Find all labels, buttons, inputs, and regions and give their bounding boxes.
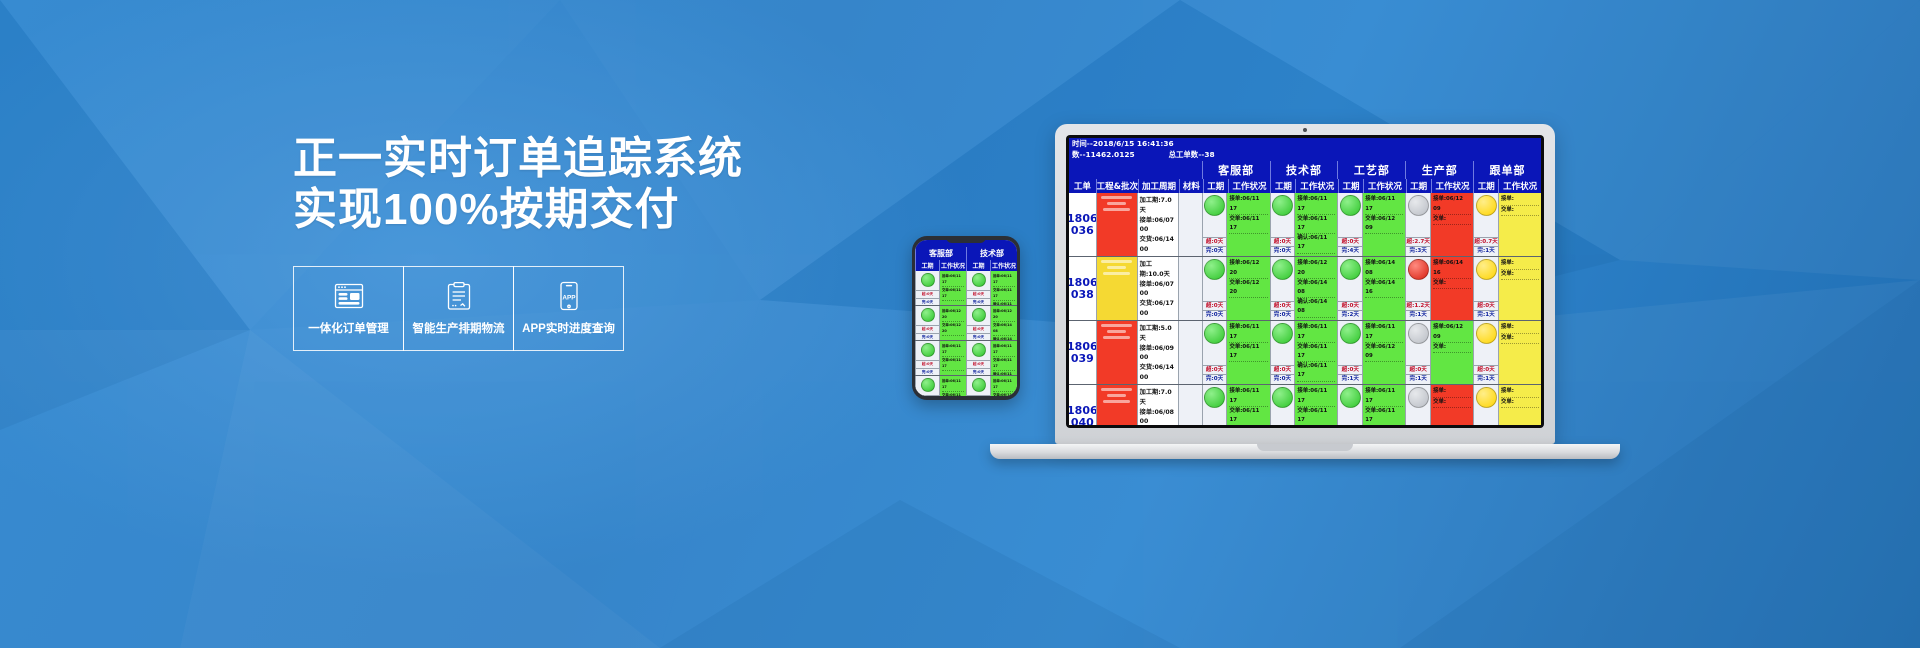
- erp-cell-project: [1096, 193, 1137, 256]
- erp-complete-days: 完:1天: [1406, 374, 1430, 384]
- erp-cell-status-客服部: 接单:06/11 17交单:06/11 17: [1226, 193, 1269, 256]
- phone-cell-duration: 超:0天完:0天: [966, 341, 990, 375]
- phone-cell-duration: 超:0天完:0天: [966, 376, 990, 396]
- erp-col-duration: 工期: [1406, 179, 1431, 193]
- phone-col-duration: 工期: [966, 260, 990, 271]
- erp-over-days: 超:0天: [1203, 365, 1227, 375]
- erp-cell-duration-生产部: 超:2.7天完:3天: [1405, 193, 1430, 256]
- erp-cell-duration-工艺部: 超:0天完:2天: [1337, 385, 1362, 425]
- erp-cell-duration-生产部: 超:1.2天完:1天: [1405, 257, 1430, 320]
- phone-notch: [946, 236, 986, 243]
- erp-col-duration: 工期: [1338, 179, 1363, 193]
- erp-cell-cycle: 加工期:7.0天接单:06/07 00交货:06/14 00: [1137, 193, 1178, 256]
- erp-order-tracking-table[interactable]: 时间--2018/6/15 16:41:36数--11462.0125总工单数-…: [1069, 138, 1541, 425]
- laptop-screen[interactable]: 时间--2018/6/15 16:41:36数--11462.0125总工单数-…: [1069, 138, 1541, 425]
- status-dot-grey: [1408, 323, 1429, 344]
- erp-cell-status-工艺部: 接单:06/11 17交单:06/11 17: [1362, 385, 1405, 425]
- erp-meta-strip: 时间--2018/6/15 16:41:36数--11462.0125总工单数-…: [1069, 138, 1541, 161]
- erp-cell-status-跟单部: 接单:交单:: [1498, 257, 1541, 320]
- erp-col-工单: 工单: [1069, 179, 1096, 193]
- erp-cell-duration-工艺部: 超:0天完:2天: [1337, 257, 1362, 320]
- status-dot-yellow: [1476, 387, 1497, 408]
- phone-cell-status: 接单:06/12 20交单:06/14 08确认:06/14 08: [990, 306, 1017, 340]
- status-dot-grey: [1408, 387, 1429, 408]
- erp-cell-material: [1178, 385, 1202, 425]
- erp-complete-days: 完:1天: [1338, 374, 1362, 384]
- erp-cell-duration-工艺部: 超:0天完:4天: [1337, 193, 1362, 256]
- status-dot-green: [1272, 387, 1293, 408]
- table-row[interactable]: 1806036加工期:7.0天接单:06/07 00交货:06/14 00超:0…: [1069, 193, 1541, 257]
- erp-cell-duration-跟单部: 超:0.7天完:1天: [1473, 193, 1498, 256]
- erp-cell-status-工艺部: 接单:06/11 17交单:06/12 09: [1362, 321, 1405, 384]
- erp-cell-material: [1178, 193, 1202, 256]
- status-dot-green: [1204, 387, 1225, 408]
- erp-cell-duration-客服部: 超:0天完:0天: [1202, 257, 1227, 320]
- erp-cell-status-跟单部: 接单:交单:: [1498, 385, 1541, 425]
- erp-cell-duration-技术部: 超:0天完:4天: [1270, 385, 1295, 425]
- phone-over-days: 超:0天: [916, 325, 939, 332]
- erp-col-status: 工作状况: [1363, 179, 1406, 193]
- webcam-icon: [1303, 128, 1307, 132]
- table-row[interactable]: 1806040加工期:7.0天接单:06/08 00交货:06/15 00超:0…: [1069, 385, 1541, 425]
- erp-column-header: 工单工程&批次加工周期材料工期工作状况工期工作状况工期工作状况工期工作状况工期工…: [1069, 179, 1541, 193]
- erp-cell-cycle: 加工期:7.0天接单:06/08 00交货:06/15 00: [1137, 385, 1178, 425]
- erp-cell-material: [1178, 321, 1202, 384]
- erp-cell-status-工艺部: 接单:06/14 08交单:06/14 16: [1362, 257, 1405, 320]
- erp-complete-days: 完:1天: [1474, 310, 1498, 320]
- erp-cell-workorder: 1806038: [1069, 257, 1096, 320]
- erp-over-days: 超:0天: [1338, 301, 1362, 311]
- erp-over-days: 超:1.2天: [1406, 301, 1430, 311]
- phone-cell-duration: 超:0天完:0天: [915, 341, 939, 375]
- status-dot-grey: [1408, 195, 1429, 216]
- erp-complete-days: 完:1天: [1406, 310, 1430, 320]
- phone-col-status: 工作状况: [939, 260, 966, 271]
- phone-cell-status: 接单:06/11 17交单:06/11 17: [939, 341, 966, 375]
- phone-over-days: 超:0天: [967, 360, 990, 367]
- phone-cell-status: 接单:06/11 17交单:06/11 17确认:06/11 17: [990, 271, 1017, 305]
- phone-complete-days: 完:0天: [916, 298, 939, 305]
- erp-cell-status-生产部: 接单:06/14 16交单:: [1430, 257, 1473, 320]
- erp-cell-project: [1096, 385, 1137, 425]
- phone-cell-status: 接单:06/11 17交单:06/11 17: [939, 376, 966, 396]
- status-dot-green: [972, 378, 986, 392]
- table-row[interactable]: 1806038加工期:10.0天接单:06/07 00交货:06/17 00超:…: [1069, 257, 1541, 321]
- phone-department-客服部: 客服部: [915, 247, 966, 260]
- erp-department-band: 客服部技术部工艺部生产部跟单部: [1069, 161, 1541, 179]
- erp-cell-cycle: 加工期:5.0天接单:06/09 00交货:06/14 00: [1137, 321, 1178, 384]
- erp-cell-status-工艺部: 接单:06/11 17交单:06/12 09: [1362, 193, 1405, 256]
- erp-cell-duration-客服部: 超:0天完:0天: [1202, 321, 1227, 384]
- erp-complete-days: 完:3天: [1406, 246, 1430, 256]
- phone-table-row[interactable]: 超:0天完:0天接单:06/11 17交单:06/11 17超:0天完:0天接单…: [915, 341, 1017, 376]
- erp-over-days: 超:0.7天: [1474, 237, 1498, 247]
- erp-cell-cycle: 加工期:10.0天接单:06/07 00交货:06/17 00: [1137, 257, 1178, 320]
- erp-over-days: 超:0天: [1271, 365, 1295, 375]
- erp-over-days: 超:0天: [1338, 237, 1362, 247]
- phone-department-band: 客服部技术部: [915, 240, 1017, 260]
- phone-cell-status: 接单:06/11 17交单:06/11 17确认:06/11 17: [990, 341, 1017, 375]
- status-dot-green: [1340, 195, 1361, 216]
- laptop-bezel: 时间--2018/6/15 16:41:36数--11462.0125总工单数-…: [1066, 135, 1544, 428]
- phone-table-row[interactable]: 超:0天完:0天接单:06/12 20交单:06/12 20超:0天完:0天接单…: [915, 306, 1017, 341]
- erp-cell-status-生产部: 接单:06/12 09交单:: [1430, 321, 1473, 384]
- erp-cell-duration-技术部: 超:0天完:0天: [1270, 193, 1295, 256]
- status-dot-green: [1204, 323, 1225, 344]
- erp-cell-duration-客服部: 超:0天完:0天: [1202, 193, 1227, 256]
- status-dot-green: [972, 273, 986, 287]
- status-dot-yellow: [1476, 195, 1497, 216]
- status-dot-green: [1272, 195, 1293, 216]
- phone-over-days: 超:0天: [967, 290, 990, 297]
- erp-department-技术部: 技术部: [1270, 161, 1338, 179]
- phone-table-row[interactable]: 超:0天完:0天接单:06/11 17交单:06/11 17超:0天完:0天接单…: [915, 376, 1017, 396]
- erp-complete-days: 完:0天: [1271, 246, 1295, 256]
- erp-cell-status-客服部: 接单:06/11 17交单:06/11 17: [1226, 385, 1269, 425]
- phone-complete-days: 完:0天: [916, 368, 939, 375]
- status-dot-green: [972, 308, 986, 322]
- erp-cell-status-跟单部: 接单:交单:: [1498, 321, 1541, 384]
- erp-department-生产部: 生产部: [1405, 161, 1473, 179]
- status-dot-green: [1272, 323, 1293, 344]
- erp-over-days: 超:0天: [1474, 365, 1498, 375]
- status-dot-red: [1408, 259, 1429, 280]
- erp-complete-days: 完:0天: [1203, 310, 1227, 320]
- erp-cell-status-技术部: 接单:06/11 17交单:06/11 17确认:06/11 17: [1294, 193, 1337, 256]
- erp-cell-duration-技术部: 超:0天完:0天: [1270, 257, 1295, 320]
- erp-complete-days: 完:4天: [1338, 246, 1362, 256]
- erp-cell-status-技术部: 接单:06/11 17交单:06/11 17确认:06/11 17: [1294, 385, 1337, 425]
- laptop-base: [990, 444, 1620, 459]
- status-dot-green: [1340, 387, 1361, 408]
- erp-col-工程&批次: 工程&批次: [1096, 179, 1138, 193]
- laptop-mockup: 时间--2018/6/15 16:41:36数--11462.0125总工单数-…: [1055, 124, 1620, 459]
- erp-over-days: 超:0天: [1203, 237, 1227, 247]
- erp-col-duration: 工期: [1473, 179, 1498, 193]
- phone-col-status: 工作状况: [990, 260, 1017, 271]
- laptop-lid: 时间--2018/6/15 16:41:36数--11462.0125总工单数-…: [1055, 124, 1555, 444]
- erp-cell-status-客服部: 接单:06/12 20交单:06/12 20: [1226, 257, 1269, 320]
- erp-complete-days: 完:0天: [1203, 246, 1227, 256]
- erp-cell-status-技术部: 接单:06/11 17交单:06/11 17确认:06/11 17: [1294, 321, 1337, 384]
- status-dot-green: [1340, 323, 1361, 344]
- erp-over-days: 超:2.7天: [1406, 237, 1430, 247]
- erp-meta-count: 数--11462.0125: [1072, 150, 1135, 161]
- erp-meta-time: 时间--2018/6/15 16:41:36: [1072, 139, 1174, 150]
- erp-cell-status-跟单部: 接单:交单:: [1498, 193, 1541, 256]
- status-dot-yellow: [1476, 259, 1497, 280]
- erp-cell-material: [1178, 257, 1202, 320]
- erp-cell-status-客服部: 接单:06/11 17交单:06/11 17: [1226, 321, 1269, 384]
- erp-col-status: 工作状况: [1431, 179, 1474, 193]
- erp-department-客服部: 客服部: [1202, 161, 1270, 179]
- status-dot-green: [1272, 259, 1293, 280]
- erp-cell-duration-跟单部: 超:0天完:1天: [1473, 321, 1498, 384]
- erp-over-days: 超:0天: [1271, 301, 1295, 311]
- erp-cell-status-生产部: 接单:交单:: [1430, 385, 1473, 425]
- device-mockups: 客服部技术部工期工作状况工期工作状况超:0天完:0天接单:06/11 17交单:…: [0, 0, 1920, 648]
- phone-cell-status: 接单:06/12 20交单:06/12 20: [939, 306, 966, 340]
- phone-complete-days: 完:0天: [967, 298, 990, 305]
- erp-col-status: 工作状况: [1228, 179, 1271, 193]
- erp-complete-days: 完:0天: [1271, 310, 1295, 320]
- status-dot-green: [972, 343, 986, 357]
- phone-complete-days: 完:0天: [916, 333, 939, 340]
- erp-complete-days: 完:0天: [1271, 374, 1295, 384]
- erp-rows: 1806036加工期:7.0天接单:06/07 00交货:06/14 00超:0…: [1069, 193, 1541, 425]
- phone-table-row[interactable]: 超:0天完:0天接单:06/11 17交单:06/11 17超:0天完:0天接单…: [915, 271, 1017, 306]
- erp-cell-workorder: 1806039: [1069, 321, 1096, 384]
- phone-cell-status: 接单:06/11 17交单:06/11 17确认:06/11 17: [990, 376, 1017, 396]
- phone-cell-duration: 超:0天完:0天: [915, 271, 939, 305]
- erp-over-days: 超:0天: [1271, 237, 1295, 247]
- erp-cell-project: [1096, 257, 1137, 320]
- erp-col-材料: 材料: [1179, 179, 1203, 193]
- status-dot-green: [1340, 259, 1361, 280]
- erp-cell-status-生产部: 接单:06/12 09交单:: [1430, 193, 1473, 256]
- erp-cell-project: [1096, 321, 1137, 384]
- erp-cell-duration-工艺部: 超:0天完:1天: [1337, 321, 1362, 384]
- phone-cell-duration: 超:0天完:0天: [966, 306, 990, 340]
- erp-cell-duration-跟单部: 超:0天完:1天: [1473, 257, 1498, 320]
- erp-col-status: 工作状况: [1498, 179, 1541, 193]
- phone-body: 客服部技术部工期工作状况工期工作状况超:0天完:0天接单:06/11 17交单:…: [912, 236, 1020, 400]
- table-row[interactable]: 1806039加工期:5.0天接单:06/09 00交货:06/14 00超:0…: [1069, 321, 1541, 385]
- erp-cell-duration-客服部: 超:0天完:1天: [1202, 385, 1227, 425]
- phone-over-days: 超:0天: [916, 395, 939, 396]
- phone-screen[interactable]: 客服部技术部工期工作状况工期工作状况超:0天完:0天接单:06/11 17交单:…: [915, 240, 1017, 396]
- erp-complete-days: 完:2天: [1338, 310, 1362, 320]
- phone-cell-duration: 超:0天完:0天: [966, 271, 990, 305]
- status-dot-green: [1204, 259, 1225, 280]
- erp-col-duration: 工期: [1203, 179, 1228, 193]
- erp-col-duration: 工期: [1270, 179, 1295, 193]
- erp-cell-duration-生产部: 超:1.7天完:3天: [1405, 385, 1430, 425]
- phone-over-days: 超:0天: [967, 395, 990, 396]
- phone-complete-days: 完:0天: [967, 368, 990, 375]
- erp-complete-days: 完:1天: [1474, 374, 1498, 384]
- erp-cell-duration-技术部: 超:0天完:0天: [1270, 321, 1295, 384]
- phone-cell-status: 接单:06/11 17交单:06/11 17: [939, 271, 966, 305]
- phone-mockup: 客服部技术部工期工作状况工期工作状况超:0天完:0天接单:06/11 17交单:…: [912, 236, 1020, 400]
- erp-complete-days: 完:1天: [1474, 246, 1498, 256]
- phone-cell-duration: 超:0天完:0天: [915, 376, 939, 396]
- phone-complete-days: 完:0天: [967, 333, 990, 340]
- phone-over-days: 超:0天: [916, 360, 939, 367]
- status-dot-green: [921, 378, 935, 392]
- erp-over-days: 超:0天: [1474, 301, 1498, 311]
- erp-over-days: 超:0天: [1203, 301, 1227, 311]
- phone-erp-table[interactable]: 客服部技术部工期工作状况工期工作状况超:0天完:0天接单:06/11 17交单:…: [915, 240, 1017, 396]
- status-dot-green: [921, 273, 935, 287]
- status-dot-green: [921, 343, 935, 357]
- erp-department-工艺部: 工艺部: [1337, 161, 1405, 179]
- erp-cell-duration-生产部: 超:0天完:1天: [1405, 321, 1430, 384]
- phone-department-技术部: 技术部: [966, 247, 1017, 260]
- erp-cell-status-技术部: 接单:06/12 20交单:06/14 08确认:06/14 08: [1294, 257, 1337, 320]
- status-dot-yellow: [1476, 323, 1497, 344]
- erp-col-status: 工作状况: [1295, 179, 1338, 193]
- erp-meta-total: 总工单数--38: [1169, 150, 1215, 161]
- erp-over-days: 超:0天: [1406, 365, 1430, 375]
- phone-col-duration: 工期: [915, 260, 939, 271]
- erp-cell-workorder: 1806040: [1069, 385, 1096, 425]
- phone-cell-duration: 超:0天完:0天: [915, 306, 939, 340]
- phone-column-header: 工期工作状况工期工作状况: [915, 260, 1017, 271]
- erp-over-days: 超:0天: [1338, 365, 1362, 375]
- erp-cell-duration-跟单部: 超:0.7天完:1天: [1473, 385, 1498, 425]
- status-dot-green: [1204, 195, 1225, 216]
- phone-over-days: 超:0天: [916, 290, 939, 297]
- status-dot-green: [921, 308, 935, 322]
- erp-complete-days: 完:0天: [1203, 374, 1227, 384]
- phone-over-days: 超:0天: [967, 325, 990, 332]
- erp-cell-workorder: 1806036: [1069, 193, 1096, 256]
- erp-col-加工周期: 加工周期: [1138, 179, 1179, 193]
- erp-department-跟单部: 跟单部: [1473, 161, 1541, 179]
